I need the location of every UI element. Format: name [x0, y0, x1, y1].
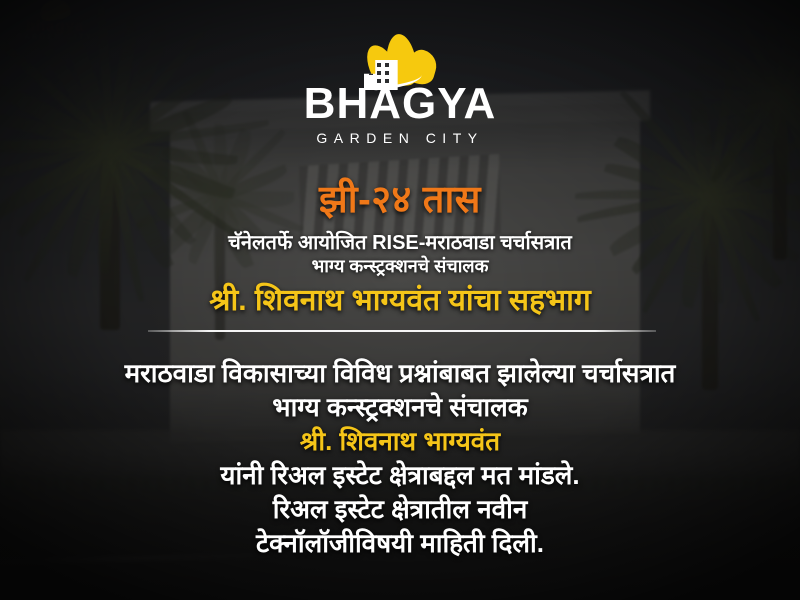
body-line: भाग्य कन्स्ट्रक्शनचे संचालक — [0, 390, 800, 424]
event-participant-highlight: श्री. शिवनाथ भाग्यवंत यांचा सहभाग — [0, 278, 800, 319]
body-line: श्री. शिवनाथ भाग्यवंत — [0, 424, 800, 458]
brand-logo: BHAGYA GARDEN CITY — [0, 30, 800, 146]
poster-content: BHAGYA GARDEN CITY झी-२४ तास चॅनेलतर्फे … — [0, 0, 800, 600]
body-line: टेक्नॉलॉजीविषयी माहिती दिली. — [0, 526, 800, 560]
logo-wordmark-wrap: BHAGYA — [304, 82, 497, 126]
event-subline-2: भाग्य कन्स्ट्रक्शनचे संचालक — [0, 254, 800, 278]
logo-wordmark-text: BHAGYA — [304, 79, 497, 128]
event-subline-1: चॅनेलतर्फे आयोजित RISE-मराठवाडा चर्चासत्… — [0, 228, 800, 255]
logo-subtitle: GARDEN CITY — [0, 130, 800, 146]
section-divider — [148, 330, 656, 332]
promotional-poster: bhagya GARDEN CITY BHAGYA — [0, 0, 800, 600]
event-headline: झी-२४ तास — [0, 172, 800, 224]
body-line: यांनी रिअल इस्टेट क्षेत्राबद्दल मत मांडल… — [0, 458, 800, 492]
body-line: मराठवाडा विकासाच्या विविध प्रश्नांबाबत झ… — [0, 356, 800, 390]
butterfly-icon — [352, 30, 448, 80]
body-text-block: मराठवाडा विकासाच्या विविध प्रश्नांबाबत झ… — [0, 356, 800, 560]
body-line: रिअल इस्टेट क्षेत्रातील नवीन — [0, 492, 800, 526]
